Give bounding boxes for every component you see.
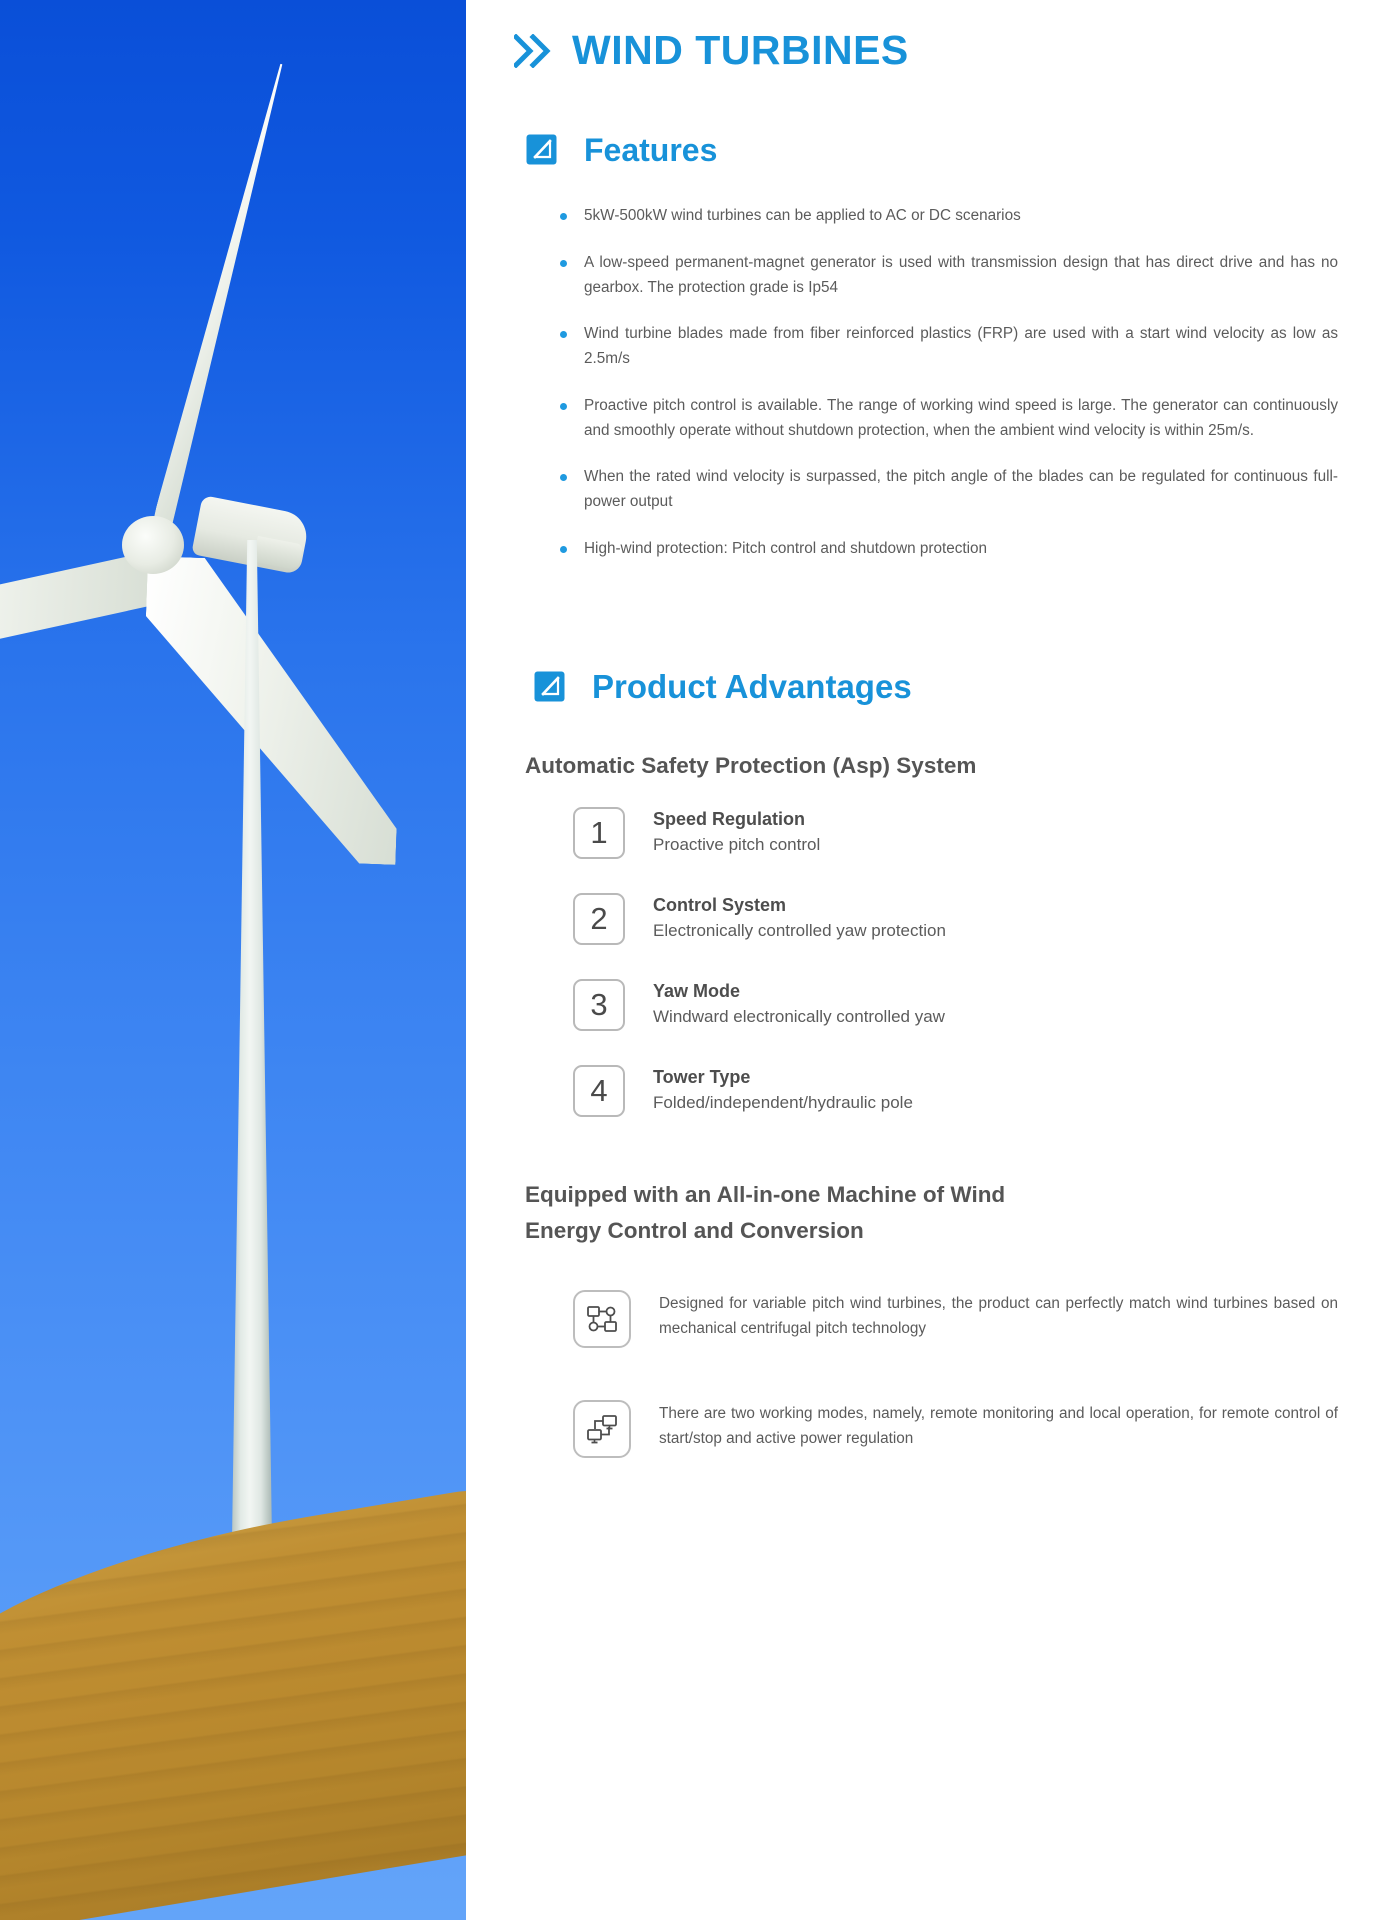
- turbine-hub: [122, 516, 184, 574]
- turbine-blade-upper: [146, 61, 291, 550]
- list-item-desc: Proactive pitch control: [653, 834, 820, 856]
- list-item-text: Yaw Mode Windward electronically control…: [653, 979, 945, 1028]
- list-item-title: Yaw Mode: [653, 980, 945, 1003]
- wind-turbine-photo: [0, 0, 466, 1920]
- list-item-desc: Electronically controlled yaw protection: [653, 920, 946, 942]
- list-item-desc: Designed for variable pitch wind turbine…: [659, 1290, 1338, 1342]
- list-item-desc: Windward electronically controlled yaw: [653, 1006, 945, 1028]
- all-in-one-machine-subheading: Equipped with an All-in-one Machine of W…: [466, 1177, 1026, 1250]
- list-item: There are two working modes, namely, rem…: [573, 1400, 1338, 1458]
- features-bullet-list: 5kW-500kW wind turbines can be applied t…: [466, 204, 1376, 562]
- feature-bullet: High-wind protection: Pitch control and …: [556, 537, 1338, 562]
- list-item-desc: There are two working modes, namely, rem…: [659, 1400, 1338, 1452]
- diagonal-arrow-square-icon: [525, 133, 558, 166]
- list-item-text: Control System Electronically controlled…: [653, 893, 946, 942]
- asp-numbered-list: 1 Speed Regulation Proactive pitch contr…: [466, 807, 1376, 1117]
- number-badge: 3: [573, 979, 625, 1031]
- turbine-blade-right: [138, 556, 406, 865]
- advantages-section-header: Product Advantages: [466, 670, 1376, 703]
- page-title-row: WIND TURBINES: [466, 0, 1376, 71]
- content-column: WIND TURBINES Features 5kW-500kW wind tu…: [466, 0, 1376, 1920]
- feature-bullet: 5kW-500kW wind turbines can be applied t…: [556, 204, 1338, 229]
- list-item: 3 Yaw Mode Windward electronically contr…: [573, 979, 1376, 1031]
- feature-bullet: Wind turbine blades made from fiber rein…: [556, 322, 1338, 372]
- brochure-page: WIND TURBINES Features 5kW-500kW wind tu…: [0, 0, 1376, 1920]
- list-item-title: Speed Regulation: [653, 808, 820, 831]
- connected-monitors-icon: [573, 1400, 631, 1458]
- feature-bullet: When the rated wind velocity is surpasse…: [556, 465, 1338, 515]
- asp-system-subheading: Automatic Safety Protection (Asp) System: [466, 751, 1376, 781]
- list-item: 1 Speed Regulation Proactive pitch contr…: [573, 807, 1376, 859]
- features-section-header: Features: [466, 133, 1376, 166]
- feature-bullet: Proactive pitch control is available. Th…: [556, 394, 1338, 444]
- page-title: WIND TURBINES: [572, 30, 909, 71]
- list-item-title: Control System: [653, 894, 946, 917]
- advantages-section-title: Product Advantages: [592, 670, 912, 703]
- number-badge: 2: [573, 893, 625, 945]
- hillside-texture: [0, 1483, 466, 1920]
- feature-bullet: A low-speed permanent-magnet generator i…: [556, 251, 1338, 301]
- features-section-title: Features: [584, 134, 717, 166]
- diagonal-arrow-square-icon: [533, 670, 566, 703]
- all-in-one-icon-list: Designed for variable pitch wind turbine…: [466, 1290, 1376, 1458]
- list-item-text: Speed Regulation Proactive pitch control: [653, 807, 820, 856]
- list-item: 2 Control System Electronically controll…: [573, 893, 1376, 945]
- double-chevron-right-icon: [514, 34, 552, 68]
- list-item-text: Tower Type Folded/independent/hydraulic …: [653, 1065, 913, 1114]
- list-item-desc: Folded/independent/hydraulic pole: [653, 1092, 913, 1114]
- number-badge: 4: [573, 1065, 625, 1117]
- list-item: 4 Tower Type Folded/independent/hydrauli…: [573, 1065, 1376, 1117]
- number-badge: 1: [573, 807, 625, 859]
- network-nodes-icon: [573, 1290, 631, 1348]
- list-item: Designed for variable pitch wind turbine…: [573, 1290, 1338, 1348]
- list-item-title: Tower Type: [653, 1066, 913, 1089]
